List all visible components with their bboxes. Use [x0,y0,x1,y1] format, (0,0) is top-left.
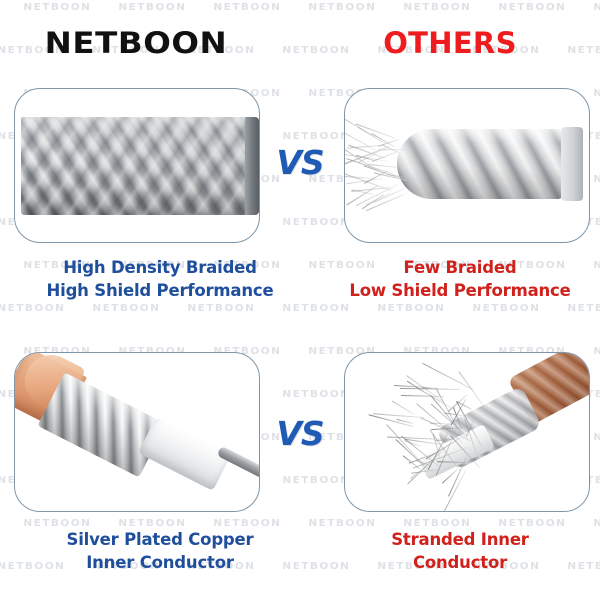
watermark-text: NETBOON [282,303,350,314]
panel-silver-plated-copper-conductor [14,352,260,512]
caption-silver-plated-copper: Silver Plated Copper Inner Conductor [10,528,310,574]
panel-few-braided [344,88,590,243]
watermark-text: NETBOON [282,217,350,228]
watermark-text: NETBOON [403,2,471,13]
watermark-text: NETBOON [567,303,600,314]
caption-few-braided: Few Braided Low Shield Performance [310,256,600,302]
watermark-text: NETBOON [0,303,65,314]
frayed-strand [442,469,467,512]
brand-logo-netboon: NETBOON [0,26,288,60]
competitor-title-others: OTHERS [300,26,600,60]
few-braided-shield-photo [345,89,589,242]
watermark-text: NETBOON [593,2,600,13]
watermark-text: NETBOON [377,303,445,314]
vs-badge-top: VS [257,143,343,182]
watermark-text: NETBOON [282,475,350,486]
watermark-text: NETBOON [23,2,91,13]
watermark-text: NETBOON [593,174,600,185]
comparison-infographic: NETBOON OTHERS [0,0,600,600]
caption-high-density-braided: High Density Braided High Shield Perform… [10,256,310,302]
caption-stranded-inner-conductor: Stranded Inner Conductor [310,528,600,574]
caption-line-2: High Shield Performance [10,279,310,302]
caption-line-1: Silver Plated Copper [10,528,310,551]
high-density-braided-shield-photo [15,89,259,242]
watermark-text: NETBOON [308,2,376,13]
panel-stranded-inner-conductor [344,352,590,512]
watermark-text: NETBOON [282,131,350,142]
watermark-text: NETBOON [498,2,566,13]
panel-high-density-braided [14,88,260,243]
caption-line-2: Conductor [310,551,600,574]
caption-line-1: Stranded Inner [310,528,600,551]
watermark-text: NETBOON [187,303,255,314]
watermark-text: NETBOON [213,2,281,13]
caption-line-1: High Density Braided [10,256,310,279]
silver-plated-copper-conductor-photo [15,353,259,511]
frayed-strand [392,400,415,415]
stranded-inner-conductor-photo [345,353,589,511]
vs-badge-bottom: VS [257,414,343,453]
watermark-text: NETBOON [593,346,600,357]
caption-line-1: Few Braided [310,256,600,279]
caption-line-2: Inner Conductor [10,551,310,574]
frayed-strand [422,363,473,390]
watermark-text: NETBOON [593,432,600,443]
caption-line-2: Low Shield Performance [310,279,600,302]
watermark-text: NETBOON [92,303,160,314]
watermark-text: NETBOON [282,389,350,400]
watermark-text: NETBOON [472,303,540,314]
watermark-text: NETBOON [118,2,186,13]
watermark-text: NETBOON [593,88,600,99]
